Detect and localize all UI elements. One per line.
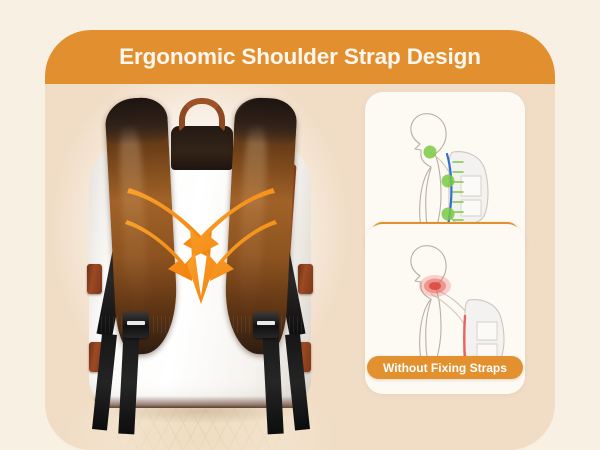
- pressure-dispersion-arrows: [67, 92, 335, 432]
- page-title: Ergonomic Shoulder Strap Design: [119, 44, 481, 70]
- comparison-diagrams: With Fixing Straps: [357, 88, 542, 446]
- label-without-fixing-straps: Without Fixing Straps: [367, 356, 523, 379]
- pain-indicator: [419, 275, 451, 297]
- title-banner: Ergonomic Shoulder Strap Design: [45, 30, 555, 84]
- panel-body: With Fixing Straps: [45, 84, 555, 450]
- figure-without-fixing-straps: [365, 224, 525, 364]
- figure-with-fixing-straps: [365, 92, 525, 232]
- product-photo-region: [45, 84, 355, 450]
- backpack-image: [67, 92, 335, 432]
- arrow-group: [125, 188, 277, 304]
- backpack-outline: [465, 300, 504, 364]
- content-card: Ergonomic Shoulder Strap Design: [45, 30, 555, 450]
- infographic-root: Ergonomic Shoulder Strap Design: [0, 0, 600, 450]
- diagram-card-without-straps: Without Fixing Straps: [365, 224, 525, 394]
